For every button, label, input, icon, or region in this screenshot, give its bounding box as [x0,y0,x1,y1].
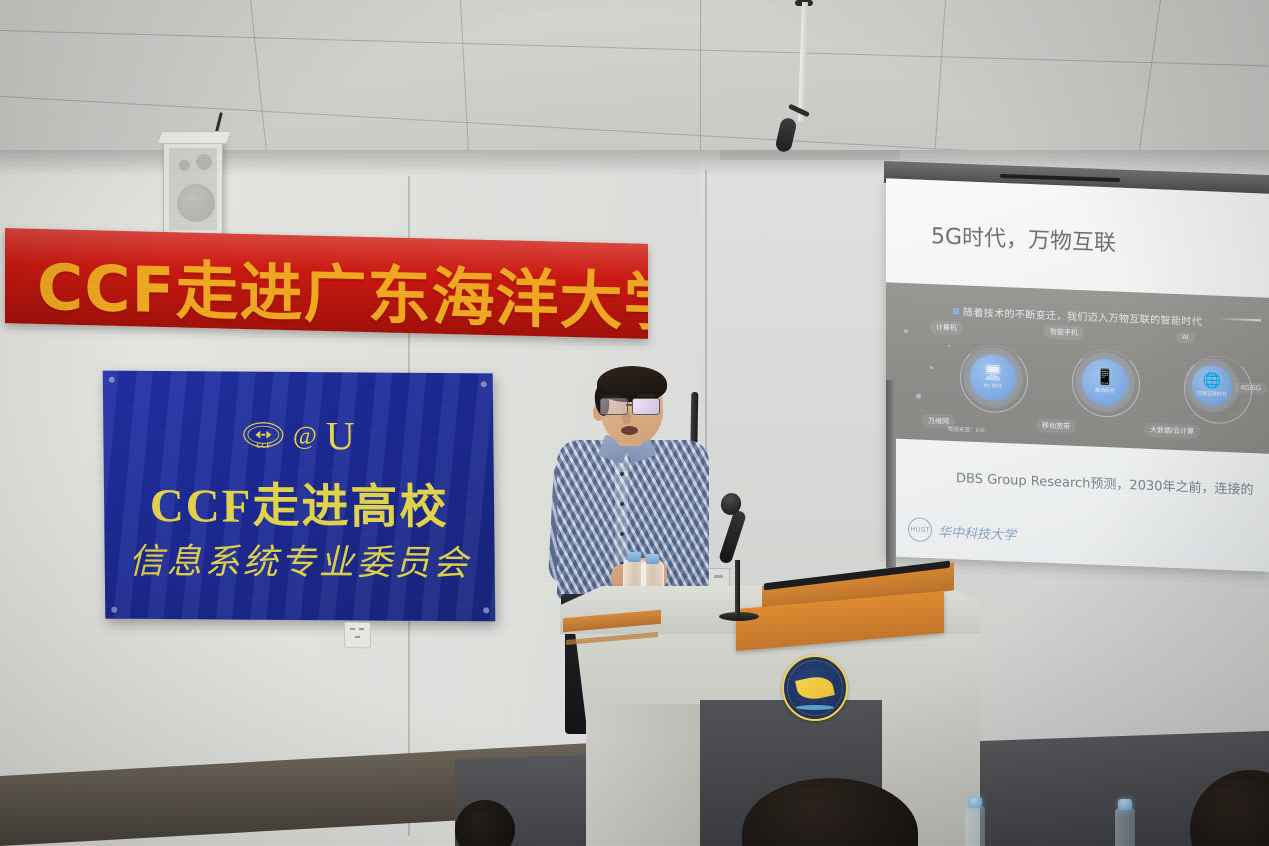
slide-right-edge-tag: 4G/5G [1234,382,1267,394]
at-symbol: @ [293,421,317,451]
red-banner: CCF走进广东海洋大学 [5,228,648,339]
slide-node-3: 🌐 万物互联时代 [1192,365,1232,407]
lecture-hall-photo: CCF走进广东海洋大学 CCF @ U CCF走进高校 信息系统专业委员会 [0,0,1269,846]
u-letter: U [326,418,355,454]
svg-text:CCF: CCF [256,442,270,450]
bottle-cap [968,797,982,808]
blue-banner-line2: 信息系统专业委员会 [104,533,495,587]
bullet-square-icon [953,308,959,314]
red-banner-text: CCF走进广东海洋大学 [37,237,627,339]
microphone-stem [735,560,740,616]
slide-node-2-top-tag: 智能手机 [1044,325,1084,341]
slide-node-3-bottom-tag: 大数据/云计算 [1144,423,1200,439]
bottle-cap [628,552,641,562]
blue-banner-line1: CCF走进高校 [104,466,495,538]
slide-diagram-band: 随着技术的不断变迁，我们迈入万物互联的智能时代 🖥 PC 时代 计算机 万维网 … [886,282,1269,453]
slide-source-note: 数据来源：IHS [948,425,985,434]
smartphone-icon: 📱 [1096,370,1115,386]
slide-node-1-label: PC 时代 [984,382,1002,390]
bottle-cap [1118,799,1132,810]
bottle-cap [646,554,659,564]
wall-speaker-icon [163,139,223,236]
globe-icon: 🌐 [1203,373,1222,389]
hust-seal-icon: HUST [908,517,932,542]
slide-node-3-label: 万物互联时代 [1197,390,1227,398]
water-bottle [1115,808,1135,846]
blue-banner: CCF @ U CCF走进高校 信息系统专业委员会 [103,371,496,622]
slide-node-1-top-tag: 计算机 [930,320,963,335]
projection-screen: 5G时代，万物互联 随着技术的不断变迁，我们迈入万物互联的智能时代 🖥 PC 时… [886,178,1269,571]
computer-icon: 🖥 [983,365,1002,381]
mouth [621,426,638,435]
wall-outlet [344,622,371,648]
screen-left-edge [886,380,896,568]
slide-footer-org: 华中科技大学 [938,521,1016,543]
slide-node-2-label: 移动时代 [1095,387,1115,395]
eyeglasses-icon [600,398,664,414]
slide-footer: HUST 华中科技大学 [908,517,1016,545]
podium-column [586,704,704,846]
slide-node-3-top-tag: AI [1176,332,1195,344]
university-emblem-icon [782,655,848,721]
ccf-logo-icon: CCF [242,421,284,451]
water-bottle [965,806,985,846]
slide-node-2-bottom-tag: 移动宽带 [1036,418,1076,434]
